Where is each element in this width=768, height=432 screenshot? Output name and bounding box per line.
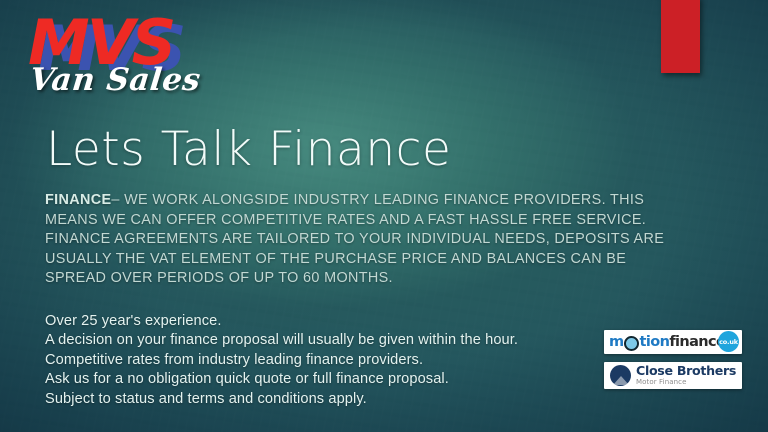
list-item: Ask us for a no obligation quick quote o…: [45, 370, 605, 389]
motion-finance-logo: m tion finance co.uk: [604, 330, 742, 354]
paragraph-body: – WE WORK ALONGSIDE INDUSTRY LEADING FIN…: [45, 192, 664, 286]
paragraph-lead: FINANCE: [45, 192, 111, 208]
motion-finance-tion: tion: [640, 335, 670, 349]
mvs-van-sales-logo: MVS MVS Van Sales: [16, 12, 216, 112]
van-sales-script: Van Sales: [28, 62, 202, 98]
motion-finance-finance: finance: [669, 335, 725, 349]
list-item: Over 25 year's experience.: [45, 312, 605, 331]
finance-description-paragraph: FINANCE– WE WORK ALONGSIDE INDUSTRY LEAD…: [45, 191, 675, 289]
close-brothers-text: Close Brothers Motor Finance: [636, 365, 736, 386]
close-brothers-logo: Close Brothers Motor Finance: [604, 362, 742, 389]
presentation-slide: MVS MVS Van Sales Lets Talk Finance FINA…: [0, 0, 768, 432]
close-brothers-lockup: Close Brothers Motor Finance: [610, 365, 736, 386]
partner-logos: m tion finance co.uk Close Brothers Moto…: [604, 330, 742, 389]
motion-finance-o-circle-icon: [624, 336, 639, 351]
list-item: Competitive rates from industry leading …: [45, 351, 605, 370]
motion-finance-m: m: [609, 335, 624, 349]
list-item: A decision on your finance proposal will…: [45, 331, 605, 350]
motion-finance-couk-badge: co.uk: [718, 331, 739, 352]
page-title: Lets Talk Finance: [46, 122, 451, 178]
list-item: Subject to status and terms and conditio…: [45, 390, 605, 409]
motion-finance-wordmark: m tion finance: [609, 332, 725, 352]
red-accent-bar: [661, 0, 700, 73]
close-brothers-mountain-icon: [610, 365, 631, 386]
close-brothers-name: Close Brothers: [636, 365, 736, 378]
close-brothers-subtitle: Motor Finance: [636, 379, 736, 386]
finance-benefits-list: Over 25 year's experience. A decision on…: [45, 312, 605, 409]
